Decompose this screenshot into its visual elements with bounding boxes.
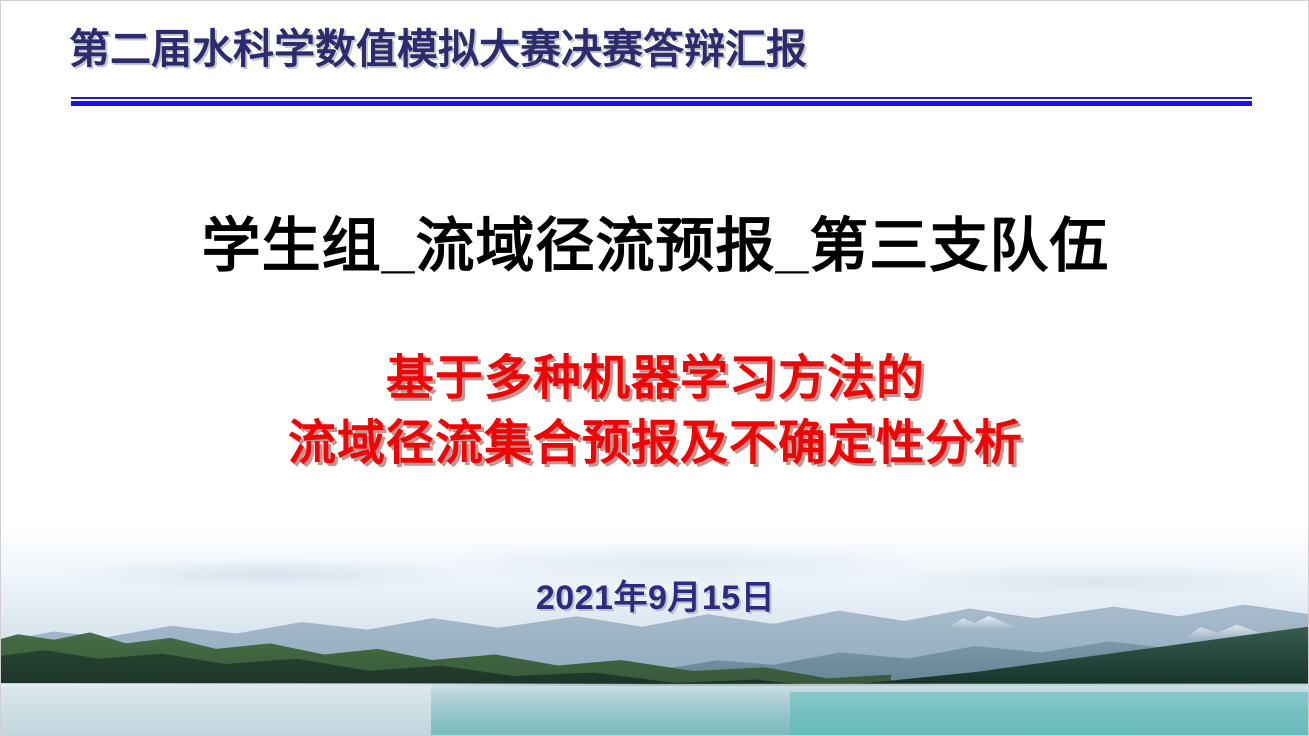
photo-water-left	[1, 684, 431, 736]
slide-header-title: 第二届水科学数值模拟大赛决赛答辩汇报	[69, 27, 807, 72]
subtitle-line-2: 流域径流集合预报及不确定性分析	[1, 411, 1309, 476]
landscape-photo	[1, 529, 1309, 736]
header-divider-rule	[71, 97, 1252, 106]
photo-shoreline	[1, 683, 1309, 686]
photo-water-right	[790, 692, 1309, 736]
subtitle-line-1: 基于多种机器学习方法的	[1, 346, 1309, 411]
slide-date: 2021年9月15日	[1, 570, 1309, 619]
slide-main-title: 学生组_流域径流预报_第三支队伍	[1, 213, 1309, 281]
slide-subtitle: 基于多种机器学习方法的 流域径流集合预报及不确定性分析	[1, 346, 1309, 477]
presentation-slide: 第二届水科学数值模拟大赛决赛答辩汇报 学生组_流域径流预报_第三支队伍 基于多种…	[0, 0, 1309, 736]
divider-thick-line	[71, 101, 1252, 106]
